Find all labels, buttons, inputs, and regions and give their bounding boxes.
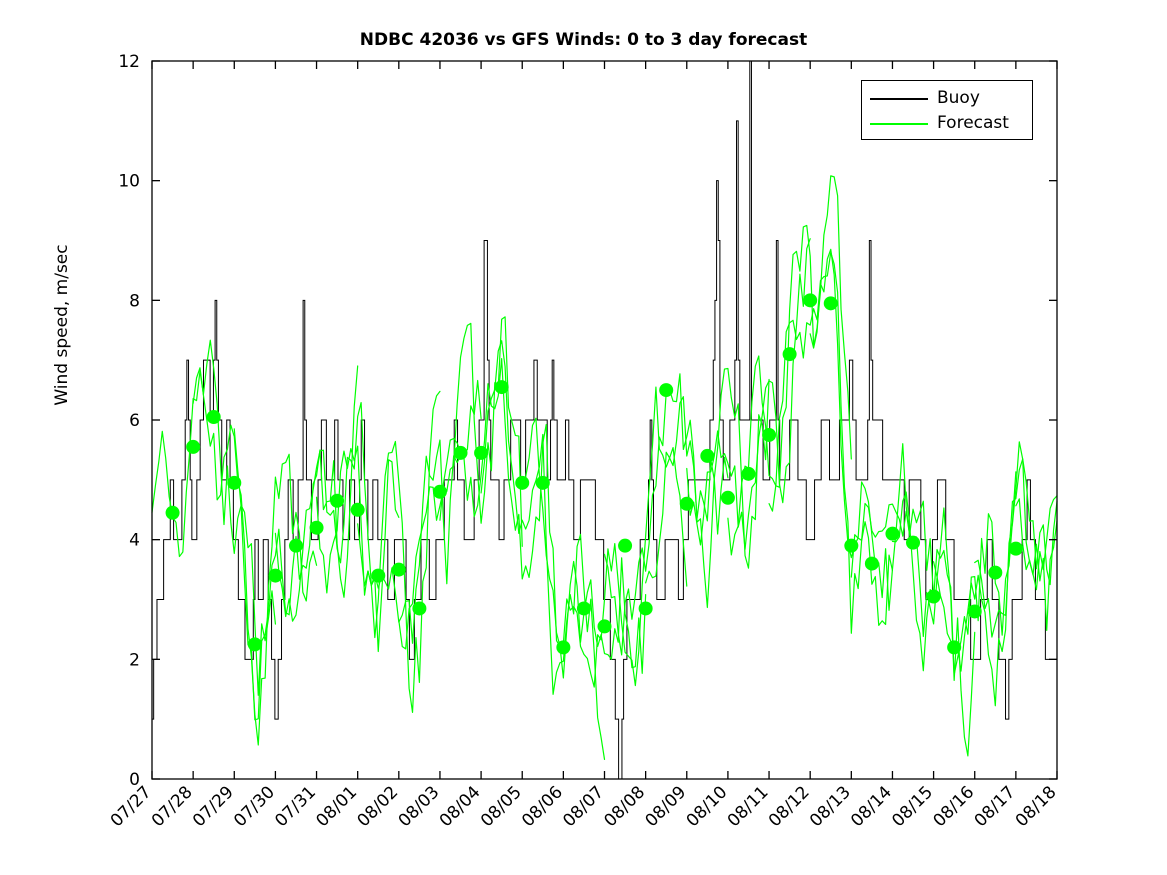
forecast-mean-marker	[330, 494, 344, 508]
forecast-mean-marker	[248, 637, 262, 651]
x-tick-08-17: 08/17	[971, 782, 1020, 831]
forecast-mean-marker	[227, 476, 241, 490]
y-tick-4: 4	[129, 531, 140, 551]
forecast-mean-marker	[454, 446, 468, 460]
forecast-mean-marker	[412, 601, 426, 615]
forecast-mean-marker	[721, 491, 735, 505]
forecast-mean-marker	[680, 497, 694, 511]
forecast-mean-marker	[865, 557, 879, 571]
y-tick-0: 0	[129, 770, 140, 790]
forecast-mean-marker	[906, 536, 920, 550]
y-axis-tick-labels: 024681012	[118, 52, 140, 790]
forecast-mean-marker	[927, 590, 941, 604]
forecast-mean-marker	[741, 467, 755, 481]
forecast-mean-marker	[351, 503, 365, 517]
x-tick-08-12: 08/12	[765, 782, 814, 831]
x-tick-08-11: 08/11	[724, 782, 773, 831]
x-tick-08-10: 08/10	[683, 782, 732, 831]
forecast-mean-marker	[371, 569, 385, 583]
legend-label-forecast: Forecast	[937, 115, 1009, 132]
forecast-mean-marker	[988, 566, 1002, 580]
x-tick-07-31: 07/31	[271, 782, 320, 831]
x-tick-08-02: 08/02	[354, 782, 403, 831]
legend-item-forecast: Forecast	[870, 111, 1024, 136]
y-tick-8: 8	[129, 291, 140, 311]
x-tick-08-03: 08/03	[395, 782, 444, 831]
x-tick-08-04: 08/04	[436, 782, 485, 831]
x-tick-08-13: 08/13	[806, 782, 855, 831]
forecast-mean-marker	[824, 296, 838, 310]
x-tick-08-05: 08/05	[477, 782, 526, 831]
forecast-mean-marker	[392, 563, 406, 577]
x-tick-08-09: 08/09	[642, 782, 691, 831]
forecast-mean-marker	[844, 539, 858, 553]
x-tick-08-18: 08/18	[1012, 782, 1061, 831]
forecast-mean-marker	[700, 449, 714, 463]
x-tick-08-01: 08/01	[312, 782, 361, 831]
forecast-run-trace	[563, 387, 686, 687]
x-tick-07-30: 07/30	[230, 782, 279, 831]
y-tick-2: 2	[129, 650, 140, 670]
y-tick-10: 10	[118, 172, 140, 192]
forecast-mean-marker	[947, 640, 961, 654]
forecast-mean-marker	[289, 539, 303, 553]
x-tick-08-07: 08/07	[559, 782, 608, 831]
forecast-mean-marker	[639, 601, 653, 615]
forecast-run-trace	[605, 374, 728, 655]
forecast-mean-marker	[310, 521, 324, 535]
forecast-mean-marker	[885, 527, 899, 541]
forecast-mean-marker	[495, 380, 509, 394]
buoy-step-line	[152, 61, 1057, 779]
forecast-mean-marker	[803, 293, 817, 307]
forecast-mean-marker	[762, 428, 776, 442]
y-tick-6: 6	[129, 411, 140, 431]
legend: Buoy Forecast	[861, 80, 1033, 140]
x-tick-07-29: 07/29	[189, 782, 238, 831]
forecast-mean-marker	[783, 347, 797, 361]
series-buoy	[152, 61, 1057, 779]
legend-swatch-buoy	[870, 98, 928, 100]
forecast-mean-marker	[515, 476, 529, 490]
legend-item-buoy: Buoy	[870, 86, 1024, 111]
forecast-mean-marker	[268, 569, 282, 583]
forecast-mean-marker	[536, 476, 550, 490]
forecast-mean-marker	[598, 619, 612, 633]
forecast-mean-marker	[186, 440, 200, 454]
axes-frame	[152, 61, 1057, 779]
forecast-run-trace	[728, 176, 851, 555]
y-tick-12: 12	[118, 52, 140, 72]
forecast-mean-marker	[1009, 542, 1023, 556]
forecast-mean-marker	[659, 383, 673, 397]
forecast-mean-marker	[577, 601, 591, 615]
forecast-mean-marker	[556, 640, 570, 654]
forecast-mean-marker	[207, 410, 221, 424]
x-tick-08-16: 08/16	[929, 782, 978, 831]
forecast-mean-marker	[433, 485, 447, 499]
forecast-mean-marker	[968, 604, 982, 618]
x-tick-08-15: 08/15	[888, 782, 937, 831]
x-axis-tick-labels: 07/2707/2807/2907/3007/3108/0108/0208/03…	[107, 782, 1061, 831]
forecast-mean-marker	[166, 506, 180, 520]
x-tick-08-08: 08/08	[600, 782, 649, 831]
x-tick-08-06: 08/06	[518, 782, 567, 831]
forecast-mean-marker	[618, 539, 632, 553]
forecast-mean-marker	[474, 446, 488, 460]
figure-canvas: NDBC 42036 vs GFS Winds: 0 to 3 day fore…	[0, 0, 1167, 875]
x-tick-08-14: 08/14	[847, 782, 896, 831]
series-forecast-markers	[166, 293, 1023, 654]
x-tick-07-28: 07/28	[148, 782, 197, 831]
series-forecast	[152, 176, 1057, 760]
legend-label-buoy: Buoy	[937, 90, 980, 107]
forecast-run-trace	[481, 341, 604, 760]
legend-swatch-forecast	[870, 123, 928, 125]
